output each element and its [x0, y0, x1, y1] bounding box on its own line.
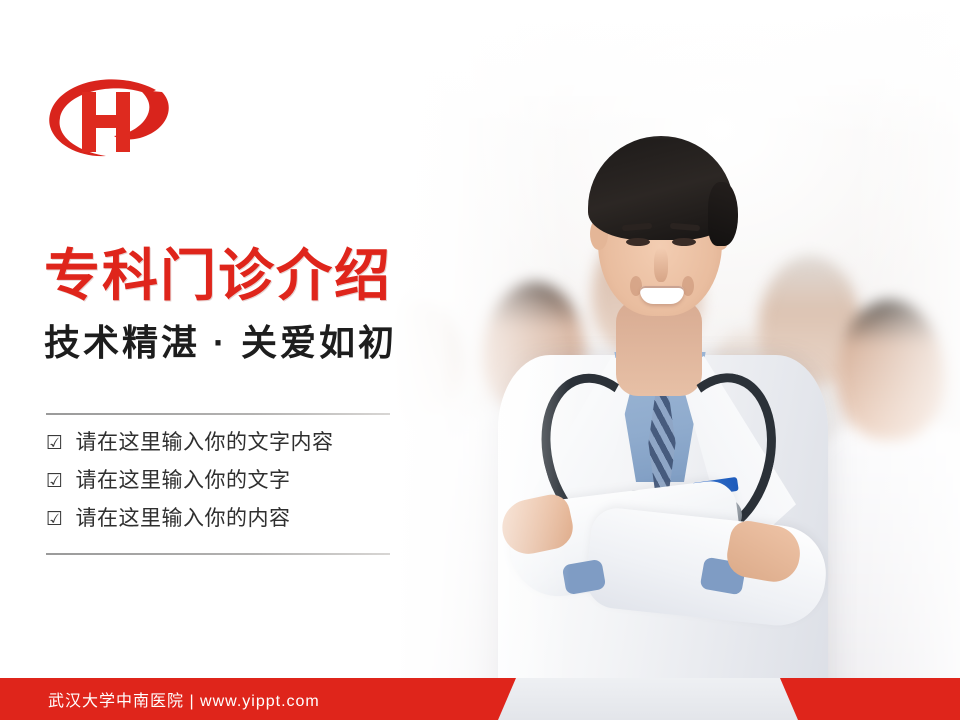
presentation-slide: 专科门诊介绍 技术精湛 · 关爱如初 ☑ 请在这里输入你的文字内容 ☑ 请在这里…	[0, 0, 960, 720]
divider-top	[46, 413, 390, 415]
checkbox-checked-icon[interactable]: ☑	[46, 510, 64, 529]
footer-credit: 武汉大学中南医院 | www.yippt.com	[48, 678, 320, 720]
doctor-nose	[654, 248, 668, 282]
doctor-eye-left	[626, 238, 650, 246]
page-title: 专科门诊介绍	[44, 246, 392, 306]
list-item-label: 请在这里输入你的文字内容	[76, 432, 334, 453]
checkbox-checked-icon[interactable]: ☑	[46, 472, 64, 491]
list-item[interactable]: ☑ 请在这里输入你的文字	[46, 470, 406, 491]
photo-fade-right	[850, 0, 960, 720]
doctor-coat-over-footer	[498, 678, 798, 720]
list-item-label: 请在这里输入你的文字	[76, 470, 291, 491]
bullet-list: ☑ 请在这里输入你的文字内容 ☑ 请在这里输入你的文字 ☑ 请在这里输入你的内容	[46, 432, 406, 546]
list-item[interactable]: ☑ 请在这里输入你的内容	[46, 508, 406, 529]
list-item[interactable]: ☑ 请在这里输入你的文字内容	[46, 432, 406, 453]
logo-letter-h	[82, 92, 130, 152]
doctor-smile	[640, 286, 684, 304]
checkbox-checked-icon[interactable]: ☑	[46, 434, 64, 453]
medical-team-photo	[330, 0, 960, 720]
doctor-hair	[588, 136, 734, 240]
divider-bottom	[46, 553, 390, 555]
page-subtitle: 技术精湛 · 关爱如初	[44, 322, 397, 363]
list-item-label: 请在这里输入你的内容	[76, 508, 291, 529]
hospital-logo	[44, 72, 174, 168]
doctor-eye-right	[672, 238, 696, 246]
